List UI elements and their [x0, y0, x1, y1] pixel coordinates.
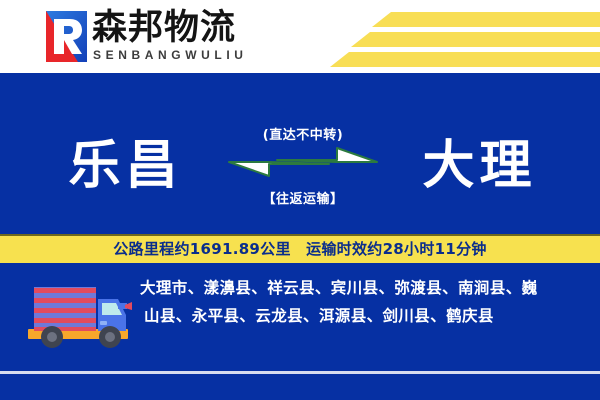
senbang-r-logo-icon — [34, 9, 87, 64]
decorative-stripes — [300, 0, 600, 73]
roundtrip-note: 【往返运输】 — [228, 188, 378, 207]
bidirectional-arrow-icon — [225, 144, 381, 180]
route-row: 乐昌 (直达不中转) 【往返运输】 大理 — [0, 116, 600, 216]
banner-body: 乐昌 (直达不中转) 【往返运输】 大理 公路里程约1691.89公里 运输时效… — [0, 73, 600, 400]
brand-name-cn: 森邦物流 — [92, 8, 236, 48]
distance-duration-text: 公路里程约1691.89公里 运输时效约28小时11分钟 — [0, 236, 600, 263]
route-middle: (直达不中转) 【往返运输】 — [228, 116, 378, 216]
coverage-line-1: 大理市、漾濞县、祥云县、宾川县、弥渡县、南涧县、巍 — [140, 274, 588, 302]
coverage-line-2: 山县、永平县、云龙县、洱源县、剑川县、鹤庆县 — [140, 302, 588, 330]
origin-city: 乐昌 — [18, 116, 233, 216]
direct-note: (直达不中转) — [228, 124, 378, 143]
bottom-divider — [0, 371, 600, 374]
distance-duration-band: 公路里程约1691.89公里 运输时效约28小时11分钟 — [0, 234, 600, 263]
delivery-truck-icon — [22, 277, 134, 349]
brand-name-en: SENBANGWULIU — [93, 48, 248, 62]
logistics-route-banner: 森邦物流 SENBANGWULIU 乐昌 (直达不中转) — [0, 0, 600, 400]
banner-header: 森邦物流 SENBANGWULIU — [0, 0, 600, 73]
destination-city: 大理 — [372, 116, 587, 216]
coverage-area-list: 大理市、漾濞县、祥云县、宾川县、弥渡县、南涧县、巍 山县、永平县、云龙县、洱源县… — [140, 274, 588, 330]
